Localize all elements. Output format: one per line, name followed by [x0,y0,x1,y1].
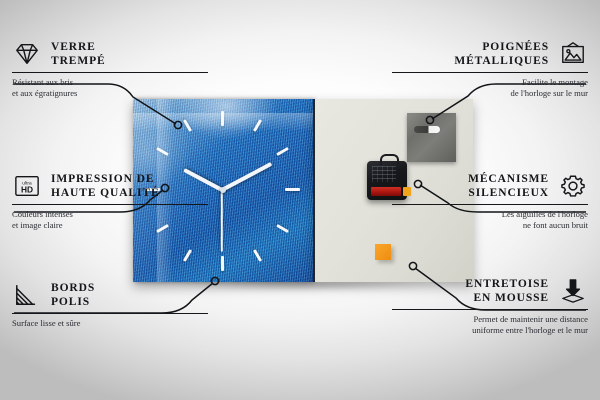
clock-tick [276,147,289,156]
callout-title: BORDS POLIS [51,281,95,309]
callout-header: VERRE TREMPÉ [12,40,208,68]
svg-text:HD: HD [21,185,33,195]
foam-spacer-arrow-icon [558,278,588,304]
callout-verre-trempe: VERRE TREMPÉ Résistant aux bris et aux é… [12,40,208,99]
ultra-hd-icon: ultra HD [12,173,42,199]
diamond-icon [12,41,42,67]
metal-hanger-plate [407,113,456,162]
callout-title: VERRE TREMPÉ [51,40,106,68]
clock-tick [221,256,224,271]
clock-tick [253,249,262,262]
clock-tick [221,111,224,126]
wall-hanging-frame-icon [558,41,588,67]
callout-title: ENTRETOISE EN MOUSSE [465,277,549,305]
callout-entretoise-en-mousse: ENTRETOISE EN MOUSSE Permet de maintenir… [392,277,588,336]
callout-impression-haute-qualite: ultra HD IMPRESSION DE HAUTE QUALITÉ Cou… [12,172,208,231]
callout-divider [392,309,588,310]
callout-header: ENTRETOISE EN MOUSSE [392,277,588,305]
infographic-canvas: VERRE TREMPÉ Résistant aux bris et aux é… [0,0,600,400]
movement-hanging-loop [380,154,399,165]
clock-tick [183,119,192,132]
callout-header: BORDS POLIS [12,281,208,309]
callout-subtitle: Surface lisse et sûre [12,318,208,329]
callout-poignees-metalliques: POIGNÉES MÉTALLIQUES Facilite le montage… [392,40,588,99]
callout-subtitle: Les aiguilles de l'horloge ne font aucun… [392,209,588,231]
callout-divider [392,204,588,205]
clock-tick [156,147,169,156]
clock-center-pin [220,187,226,193]
callout-divider [12,72,208,73]
callout-divider [12,313,208,314]
callout-title: MÉCANISME SILENCIEUX [468,172,549,200]
callout-title: IMPRESSION DE HAUTE QUALITÉ [51,172,160,200]
callout-header: POIGNÉES MÉTALLIQUES [392,40,588,68]
clock-tick [285,188,300,191]
gear-icon [558,173,588,199]
callout-subtitle: Résistant aux bris et aux égratignures [12,77,208,99]
clock-minute-hand [221,162,272,192]
callout-subtitle: Facilite le montage de l'horloge sur le … [392,77,588,99]
callout-title: POIGNÉES MÉTALLIQUES [454,40,549,68]
clock-tick [276,224,289,233]
clock-second-hand [221,190,223,252]
clock-tick [253,119,262,132]
polished-edge-icon [12,282,42,308]
hanger-keyhole-slot [414,126,440,133]
callout-divider [12,204,208,205]
callout-bords-polis: BORDS POLIS Surface lisse et sûre [12,281,208,329]
callout-divider [392,72,588,73]
callout-header: ultra HD IMPRESSION DE HAUTE QUALITÉ [12,172,208,200]
foam-spacer-pad [375,244,391,260]
callout-header: MÉCANISME SILENCIEUX [392,172,588,200]
callout-mecanisme-silencieux: MÉCANISME SILENCIEUX Les aiguilles de l'… [392,172,588,231]
callout-subtitle: Couleurs intenses et image claire [12,209,208,231]
clock-tick [183,249,192,262]
callout-subtitle: Permet de maintenir une distance uniform… [392,314,588,336]
